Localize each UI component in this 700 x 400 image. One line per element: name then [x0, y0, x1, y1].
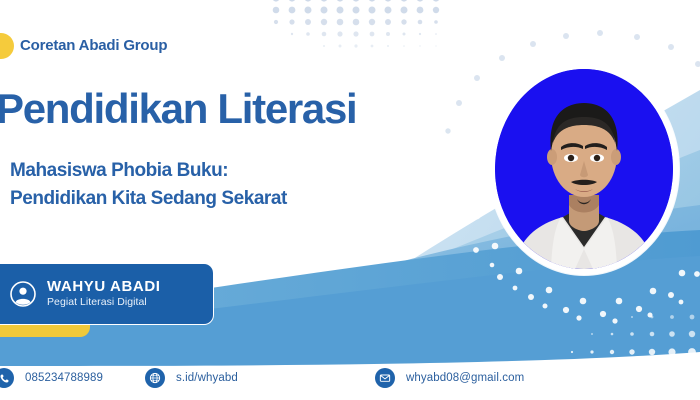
- person-circle-icon: [10, 281, 36, 307]
- speaker-role: Pegiat Literasi Digital: [47, 296, 161, 310]
- speaker-info: WAHYU ABADI Pegiat Literasi Digital: [47, 278, 161, 310]
- globe-icon: [145, 368, 165, 388]
- photo-frame: [495, 69, 673, 269]
- speaker-photo: [489, 63, 679, 275]
- envelope-icon: [375, 368, 395, 388]
- contact-email[interactable]: whyabd08@gmail.com: [375, 368, 524, 388]
- contact-phone-label: 085234788989: [25, 372, 103, 384]
- speaker-name: WAHYU ABADI: [47, 278, 161, 295]
- footer-contacts: 085234788989 s.id/whyabd: [0, 362, 700, 400]
- contact-email-label: whyabd08@gmail.com: [406, 372, 524, 384]
- contact-website[interactable]: s.id/whyabd: [145, 368, 238, 388]
- subtitle-line-2: Pendidikan Kita Sedang Sekarat: [10, 185, 287, 213]
- brand-name: Coretan Abadi Group: [20, 37, 167, 54]
- portrait-image: [495, 69, 673, 269]
- phone-icon: [0, 368, 14, 388]
- speaker-badge: WAHYU ABADI Pegiat Literasi Digital: [0, 263, 214, 325]
- subtitle-line-1: Mahasiswa Phobia Buku:: [10, 157, 287, 185]
- subtitle: Mahasiswa Phobia Buku: Pendidikan Kita S…: [10, 157, 287, 212]
- promo-banner: Coretan Abadi Group Pendidikan Literasi …: [0, 0, 700, 400]
- contact-website-label: s.id/whyabd: [176, 372, 238, 384]
- page-title: Pendidikan Literasi: [0, 88, 356, 130]
- contact-phone[interactable]: 085234788989: [0, 368, 103, 388]
